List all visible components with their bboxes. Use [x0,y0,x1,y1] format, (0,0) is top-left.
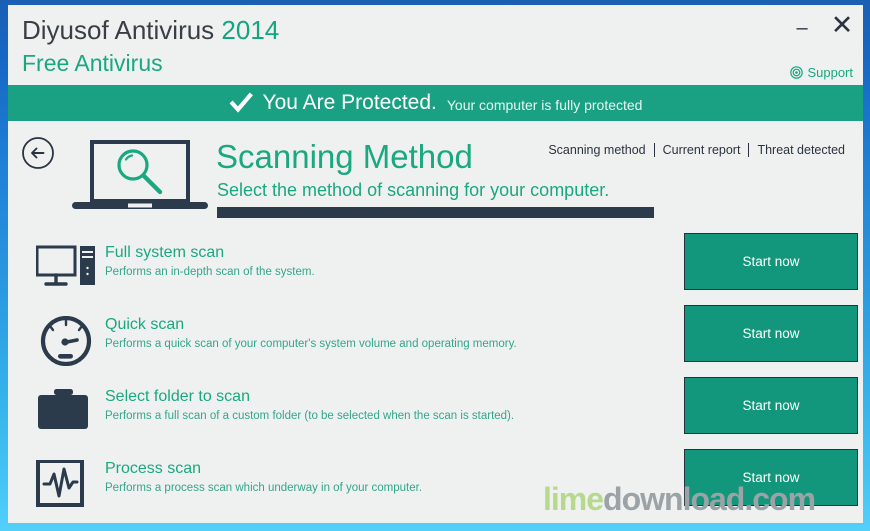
target-icon [790,66,803,79]
scan-option-name: Select folder to scan [105,388,250,406]
application-window: Diyusof Antivirus 2014 Free Antivirus – … [8,5,863,523]
scan-option-name: Process scan [105,460,201,478]
start-now-button-full-system[interactable]: Start now [684,233,858,290]
desktop-computer-icon [36,244,96,294]
app-subtitle: Free Antivirus [22,50,163,77]
window-controls: – ✕ [789,13,855,37]
scan-option-description: Performs a full scan of a custom folder … [105,410,514,422]
pulse-monitor-icon [36,460,96,510]
support-label: Support [807,65,853,80]
status-banner: You Are Protected. Your computer is full… [8,85,863,121]
title-underline [217,207,654,218]
start-now-button-quick-scan[interactable]: Start now [684,305,858,362]
support-link[interactable]: Support [790,65,853,80]
minimize-icon[interactable]: – [789,16,815,40]
content-area: Scanning Method Select the method of sca… [8,121,863,523]
title-bar: Diyusof Antivirus 2014 Free Antivirus – … [8,5,863,85]
close-icon[interactable]: ✕ [829,13,855,37]
nav-tab-scanning-method[interactable]: Scanning method [540,143,653,157]
status-title: You Are Protected. [263,91,437,115]
app-title: Diyusof Antivirus 2014 [22,15,279,46]
start-now-button-process-scan[interactable]: Start now [684,449,858,506]
scan-option-name: Quick scan [105,316,184,334]
scan-option-name: Full system scan [105,244,224,262]
start-now-button-select-folder[interactable]: Start now [684,377,858,434]
app-title-year: 2014 [221,15,279,45]
scan-option-description: Performs a process scan which underway i… [105,482,422,494]
nav-tab-threat-detected[interactable]: Threat detected [749,143,853,157]
check-icon [229,91,253,115]
back-arrow-icon[interactable] [21,136,55,170]
page-title: Scanning Method [216,138,473,176]
nav-tab-current-report[interactable]: Current report [655,143,749,157]
scan-row-process-scan: Process scan Performs a process scan whi… [8,460,863,523]
page-description: Select the method of scanning for your c… [217,180,609,201]
briefcase-folder-icon [36,388,96,438]
status-subtitle: Your computer is fully protected [447,97,643,113]
laptop-magnifier-icon [70,138,210,216]
scan-option-description: Performs an in-depth scan of the system. [105,266,315,278]
nav-tabs: Scanning method Current report Threat de… [540,143,853,157]
speedometer-icon [36,316,96,366]
scan-option-description: Performs a quick scan of your computer's… [105,338,517,350]
app-title-main: Diyusof Antivirus [22,15,221,45]
